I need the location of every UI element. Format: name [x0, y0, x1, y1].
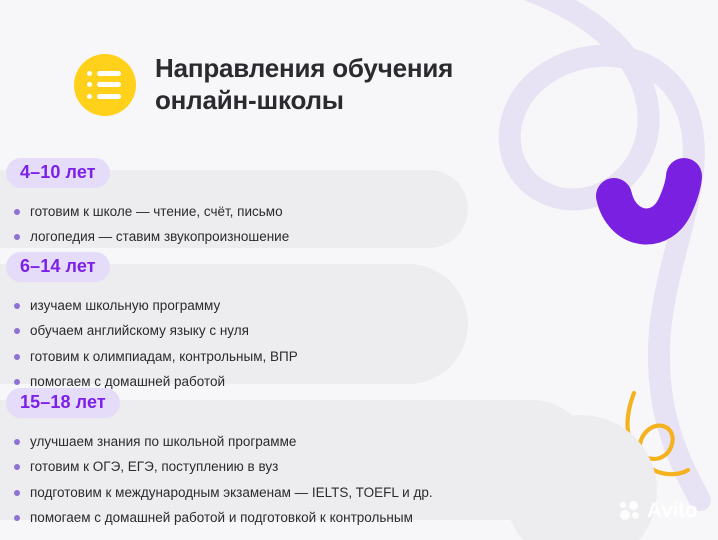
age-badge-3: 15–18 лет — [6, 388, 120, 418]
list-item-label: готовим к олимпиадам, контрольным, ВПР — [30, 347, 298, 367]
list-item: подготовим к международным экзаменам — I… — [14, 483, 433, 503]
list-item-label: логопедия — ставим звукопроизношение — [30, 227, 289, 247]
list-item-label: готовим к школе — чтение, счёт, письмо — [30, 202, 283, 222]
list-item-label: помогаем с домашней работой и подготовко… — [30, 508, 413, 528]
list-item-label: улучшаем знания по школьной программе — [30, 432, 296, 452]
list-item-label: готовим к ОГЭ, ЕГЭ, поступлению в вуз — [30, 457, 278, 477]
bullet-dot-icon — [14, 515, 20, 521]
yellow-hand-drawn-loop — [628, 393, 689, 474]
benefit-list-2: изучаем школьную программу обучаем англи… — [14, 296, 298, 392]
list-item: готовим к олимпиадам, контрольным, ВПР — [14, 347, 298, 367]
age-badge-2: 6–14 лет — [6, 252, 110, 282]
list-item: изучаем школьную программу — [14, 296, 298, 316]
list-item: логопедия — ставим звукопроизношение — [14, 227, 289, 247]
avito-wordmark: Avito — [647, 500, 697, 521]
bullet-dot-icon — [14, 464, 20, 470]
bullet-dot-icon — [14, 209, 20, 215]
poster-canvas: Направления обучения онлайн-школы 4–10 л… — [0, 0, 718, 540]
bullet-dot-icon — [14, 234, 20, 240]
list-item-label: обучаем английскому языку с нуля — [30, 321, 249, 341]
bold-purple-curve-shape — [614, 176, 684, 227]
list-item: помогаем с домашней работой и подготовко… — [14, 508, 433, 528]
avito-dots-logo — [620, 501, 643, 521]
bullet-dot-icon — [14, 379, 20, 385]
header: Направления обучения онлайн-школы — [74, 53, 453, 116]
age-badge-1: 4–10 лет — [6, 158, 110, 188]
bulleted-list-icon — [74, 54, 136, 116]
bullet-dot-icon — [14, 303, 20, 309]
age-group-section-3: 15–18 лет улучшаем знания по школьной пр… — [0, 400, 592, 520]
bullet-dot-icon — [14, 328, 20, 334]
list-item: готовим к ОГЭ, ЕГЭ, поступлению в вуз — [14, 457, 433, 477]
age-group-section-2: 6–14 лет изучаем школьную программу обуч… — [0, 264, 468, 384]
bullet-dot-icon — [14, 490, 20, 496]
list-item-label: изучаем школьную программу — [30, 296, 220, 316]
avito-watermark: Avito — [620, 500, 697, 521]
list-item: готовим к школе — чтение, счёт, письмо — [14, 202, 289, 222]
benefit-list-3: улучшаем знания по школьной программе го… — [14, 432, 433, 528]
age-group-section-1: 4–10 лет готовим к школе — чтение, счёт,… — [0, 170, 468, 248]
bullet-dot-icon — [14, 439, 20, 445]
page-title: Направления обучения онлайн-школы — [155, 53, 453, 116]
bullet-dot-icon — [14, 354, 20, 360]
benefit-list-1: готовим к школе — чтение, счёт, письмо л… — [14, 202, 289, 248]
list-item-label: подготовим к международным экзаменам — I… — [30, 483, 433, 503]
list-item: улучшаем знания по школьной программе — [14, 432, 433, 452]
list-item: обучаем английскому языку с нуля — [14, 321, 298, 341]
